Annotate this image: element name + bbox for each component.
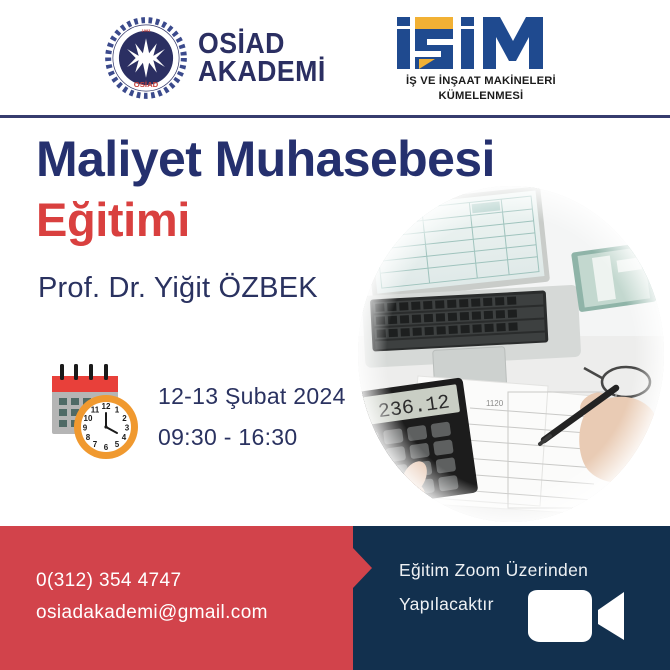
osiad-line1: OSİAD <box>198 30 326 58</box>
svg-text:11: 11 <box>91 406 100 415</box>
svg-text:7: 7 <box>93 440 98 449</box>
isim-sub-line1: İŞ VE İNŞAAT MAKİNELERİ <box>406 74 556 88</box>
accounting-desk-photo: 1120 236.12 <box>358 186 664 522</box>
svg-text:12: 12 <box>102 402 111 411</box>
arrow-pointer-icon <box>353 548 372 588</box>
osiad-wordmark: OSİAD AKADEMİ <box>198 30 326 86</box>
svg-text:8: 8 <box>86 433 91 442</box>
zoom-note-line1: Eğitim Zoom Üzerinden <box>399 553 588 587</box>
event-date: 12-13 Şubat 2024 <box>158 376 346 417</box>
svg-text:6: 6 <box>104 443 109 452</box>
contact-phone[interactable]: 0(312) 354 4747 <box>36 565 268 597</box>
isim-logo: İŞ VE İNŞAAT MAKİNELERİ KÜMELENMESİ <box>395 15 567 103</box>
svg-text:OSİAD: OSİAD <box>134 80 159 89</box>
isim-sub-line2: KÜMELENMESİ <box>406 89 556 103</box>
osiad-logo: OSİAD 1993 OSİAD AKADEMİ <box>103 15 337 101</box>
header-divider <box>0 115 670 118</box>
svg-text:9: 9 <box>83 424 88 433</box>
contact-info: 0(312) 354 4747 osiadakademi@gmail.com <box>36 565 268 629</box>
svg-text:2: 2 <box>122 414 127 423</box>
svg-text:1: 1 <box>115 406 120 415</box>
speaker-name: Prof. Dr. Yiğit ÖZBEK <box>38 272 318 305</box>
osiad-line2: AKADEMİ <box>198 58 326 86</box>
osiad-gear-star-logo-icon: OSİAD 1993 <box>103 15 189 101</box>
svg-text:3: 3 <box>125 424 130 433</box>
isim-subtitle: İŞ VE İNŞAAT MAKİNELERİ KÜMELENMESİ <box>406 74 556 103</box>
calendar-clock-icons: 12 1 2 3 4 5 6 7 8 9 10 11 <box>44 360 140 464</box>
event-time: 09:30 - 16:30 <box>158 417 346 458</box>
page-subtitle: Eğitimi <box>36 192 190 247</box>
contact-email[interactable]: osiadakademi@gmail.com <box>36 597 268 629</box>
poster-root: OSİAD 1993 OSİAD AKADEMİ <box>0 0 670 670</box>
video-camera-icon <box>524 588 630 646</box>
header-logos: OSİAD 1993 OSİAD AKADEMİ <box>0 0 670 116</box>
svg-text:1993: 1993 <box>142 28 152 33</box>
schedule-block: 12 1 2 3 4 5 6 7 8 9 10 11 <box>44 360 346 464</box>
schedule-text: 12-13 Şubat 2024 09:30 - 16:30 <box>158 376 346 458</box>
isim-wordmark-logo-icon <box>395 15 567 71</box>
page-title: Maliyet Muhasebesi <box>36 130 495 188</box>
svg-text:5: 5 <box>115 440 120 449</box>
svg-text:10: 10 <box>84 414 93 423</box>
svg-text:4: 4 <box>122 433 127 442</box>
clock-icon: 12 1 2 3 4 5 6 7 8 9 10 11 <box>74 395 138 459</box>
